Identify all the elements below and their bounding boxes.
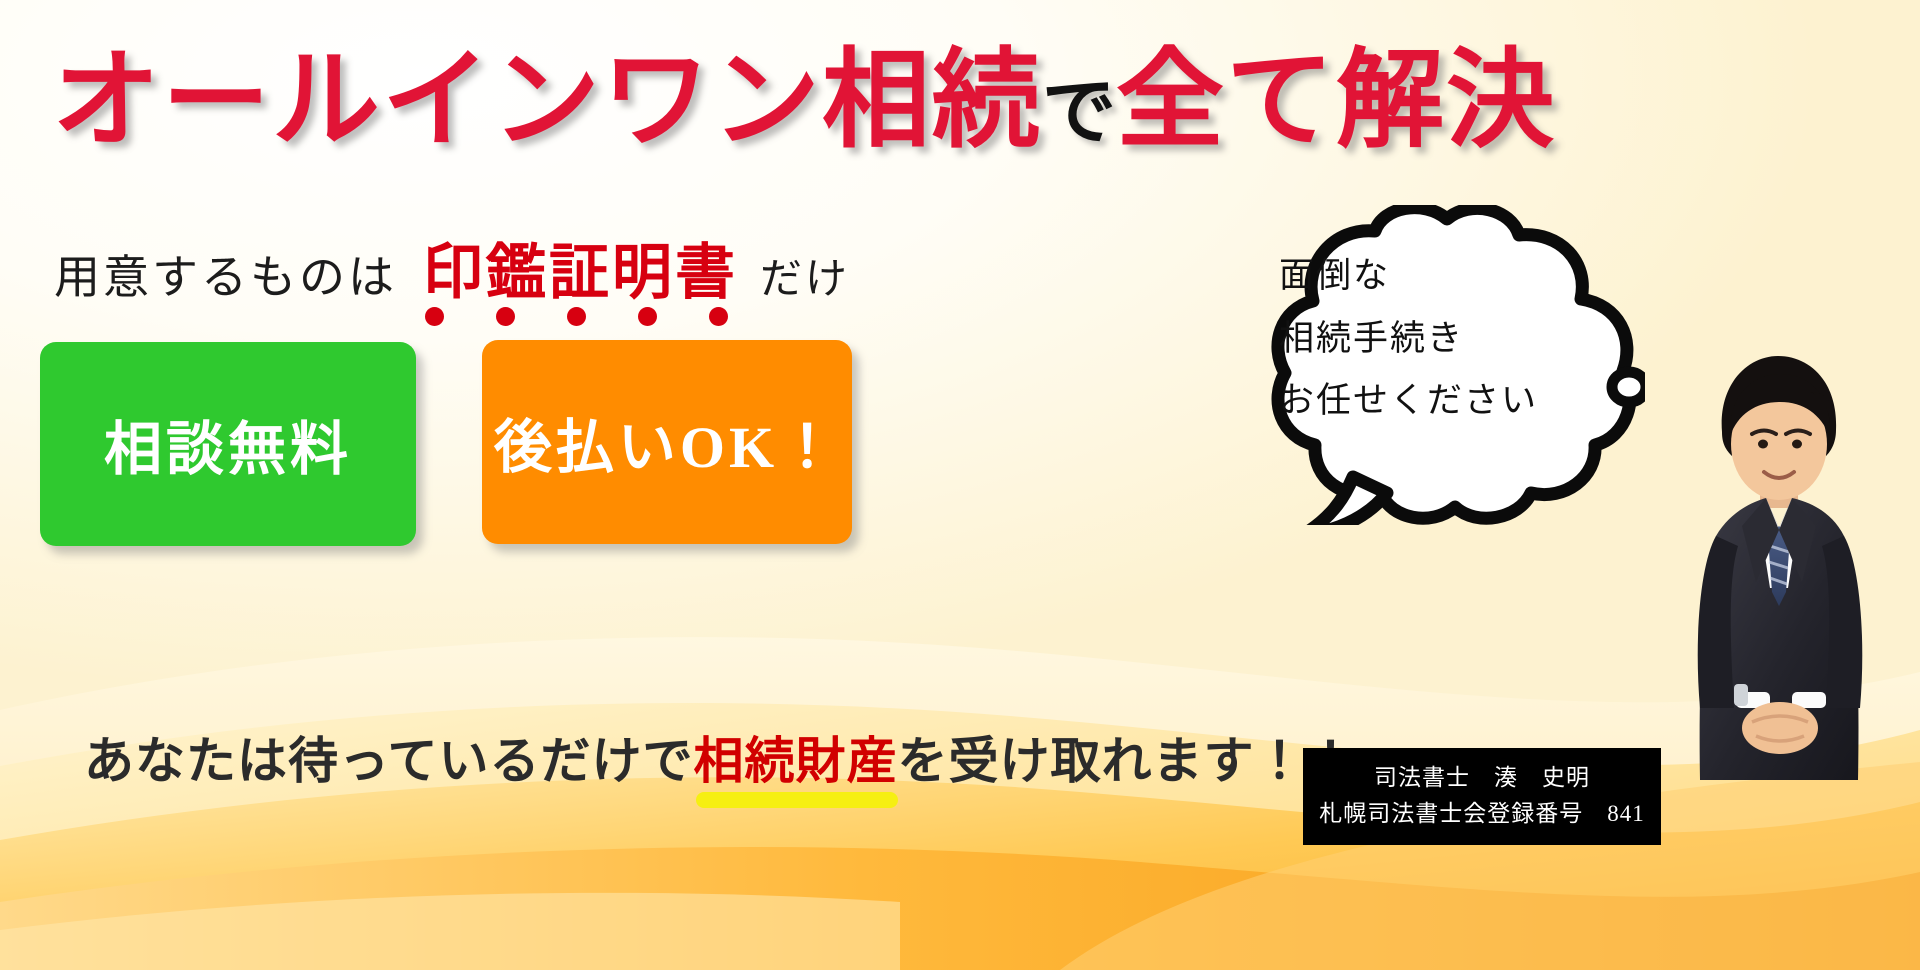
headline-part-red-1: オールインワン相続 xyxy=(52,42,1042,161)
tagline: あなたは待っているだけで 相続財産 を受け取れます！！ xyxy=(84,736,1357,786)
bubble-line-2: 相続手続き xyxy=(1279,320,1609,359)
bubble-line-3: お任せください xyxy=(1279,382,1609,421)
headline: オールインワン相続で全て解決 xyxy=(52,48,1556,156)
credential-box: 司法書士 湊 史明 札幌司法書士会登録番号 841 xyxy=(1303,748,1661,845)
emphasis-dot xyxy=(567,307,586,326)
headline-part-red-2: 全て解決 xyxy=(1116,42,1556,161)
free-consultation-button[interactable]: 相談無料 xyxy=(40,342,416,546)
tagline-highlight-text: 相続財産 xyxy=(694,733,898,789)
emphasis-dot xyxy=(425,307,444,326)
person-photo xyxy=(1660,340,1890,840)
subline: 用意するものは 印鑑証明書 だけ xyxy=(54,243,850,303)
credential-line-1: 司法書士 湊 史明 xyxy=(1303,760,1661,796)
tagline-suffix: を受け取れます！！ xyxy=(898,736,1357,786)
emphasis-dots xyxy=(425,307,728,326)
subline-emphasis-group: 印鑑証明書 xyxy=(423,243,738,303)
free-consultation-button-label: 相談無料 xyxy=(104,402,352,486)
emphasis-dot xyxy=(496,307,515,326)
bubble-line-1: 面倒な xyxy=(1279,257,1609,296)
speech-bubble: 面倒な 相続手続き お任せください xyxy=(1225,205,1645,525)
headline-part-black: で xyxy=(1042,72,1116,154)
tagline-highlight-group: 相続財産 xyxy=(694,736,898,786)
yellow-underline-marker xyxy=(696,792,898,808)
emphasis-dot xyxy=(709,307,728,326)
subline-suffix: だけ xyxy=(760,259,850,301)
speech-bubble-text: 面倒な 相続手続き お任せください xyxy=(1279,257,1609,421)
credential-line-2: 札幌司法書士会登録番号 841 xyxy=(1303,796,1661,832)
subline-prefix: 用意するものは xyxy=(54,255,397,301)
promotional-banner: オールインワン相続で全て解決 用意するものは 印鑑証明書 だけ 相談無料 後払い… xyxy=(0,0,1920,970)
subline-emphasis-text: 印鑑証明書 xyxy=(423,240,738,306)
pay-later-button-label: 後払いOK！ xyxy=(494,400,840,484)
emphasis-dot xyxy=(638,307,657,326)
pay-later-button[interactable]: 後払いOK！ xyxy=(482,340,852,544)
tagline-prefix: あなたは待っているだけで xyxy=(84,736,694,786)
